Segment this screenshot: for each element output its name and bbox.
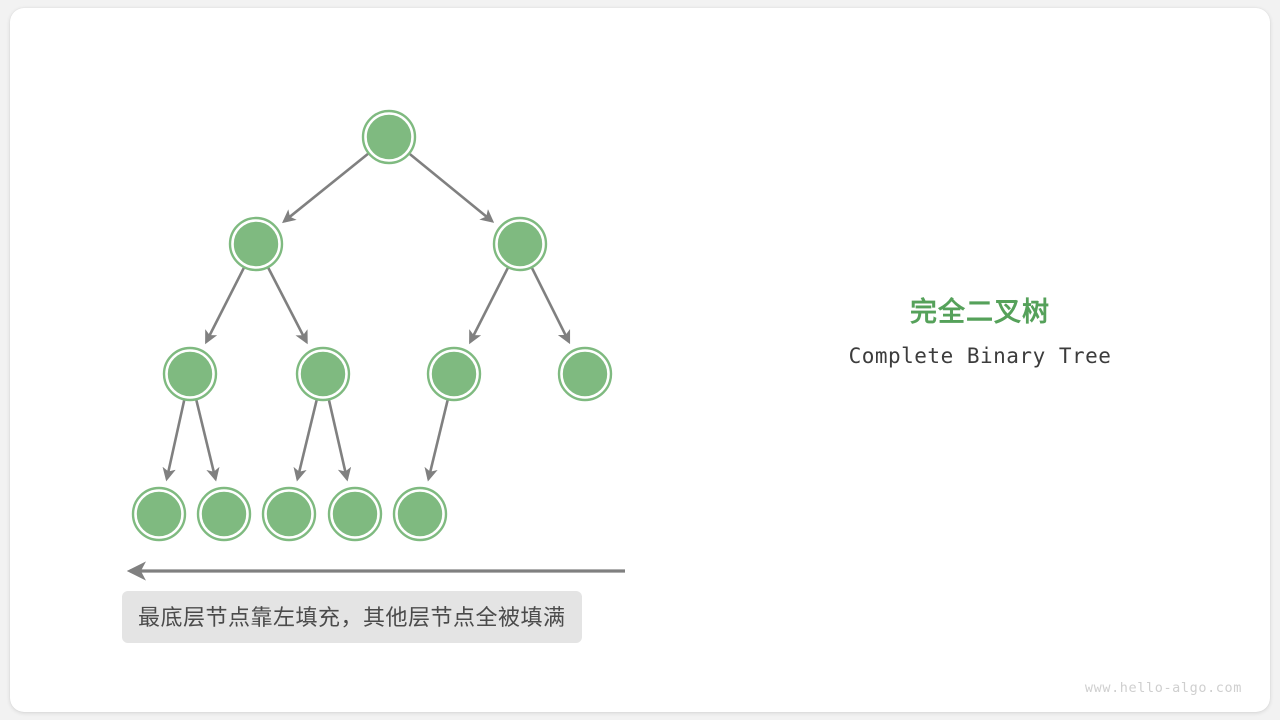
tree-node-circle	[167, 351, 213, 397]
tree-node	[329, 488, 381, 540]
tree-node-circle	[431, 351, 477, 397]
tree-node	[394, 488, 446, 540]
tree-node-circle	[366, 114, 412, 160]
tree-node	[164, 348, 216, 400]
tree-edge	[206, 268, 243, 342]
tree-nodes	[133, 111, 611, 540]
tree-edge	[532, 268, 569, 342]
tree-node-circle	[562, 351, 608, 397]
tree-edge	[428, 400, 447, 479]
tree-node	[363, 111, 415, 163]
tree-node-circle	[397, 491, 443, 537]
legend-block: 完全二叉树 Complete Binary Tree	[770, 296, 1190, 368]
tree-edge	[470, 268, 507, 342]
tree-node	[297, 348, 349, 400]
tree-node-circle	[136, 491, 182, 537]
tree-edge	[329, 400, 347, 479]
tree-node-circle	[497, 221, 543, 267]
tree-node	[133, 488, 185, 540]
page-background: 完全二叉树 Complete Binary Tree 最底层节点靠左填充，其他层…	[0, 0, 1280, 720]
tree-node	[559, 348, 611, 400]
caption-note: 最底层节点靠左填充，其他层节点全被填满	[122, 591, 582, 643]
tree-edge	[410, 154, 492, 221]
tree-node	[494, 218, 546, 270]
tree-edge	[284, 154, 368, 222]
tree-edge	[196, 400, 215, 479]
tree-node	[428, 348, 480, 400]
diagram-card: 完全二叉树 Complete Binary Tree 最底层节点靠左填充，其他层…	[10, 8, 1270, 712]
tree-edge	[268, 268, 306, 342]
watermark: www.hello-algo.com	[1085, 680, 1242, 696]
tree-node-circle	[332, 491, 378, 537]
tree-node	[230, 218, 282, 270]
tree-edges	[167, 154, 569, 479]
page-subtitle: Complete Binary Tree	[770, 344, 1190, 368]
tree-node-circle	[201, 491, 247, 537]
tree-node	[263, 488, 315, 540]
tree-node-circle	[233, 221, 279, 267]
tree-node	[198, 488, 250, 540]
tree-edge	[167, 400, 184, 478]
page-title: 完全二叉树	[770, 296, 1190, 328]
tree-edge	[297, 400, 316, 479]
tree-node-circle	[266, 491, 312, 537]
tree-node-circle	[300, 351, 346, 397]
